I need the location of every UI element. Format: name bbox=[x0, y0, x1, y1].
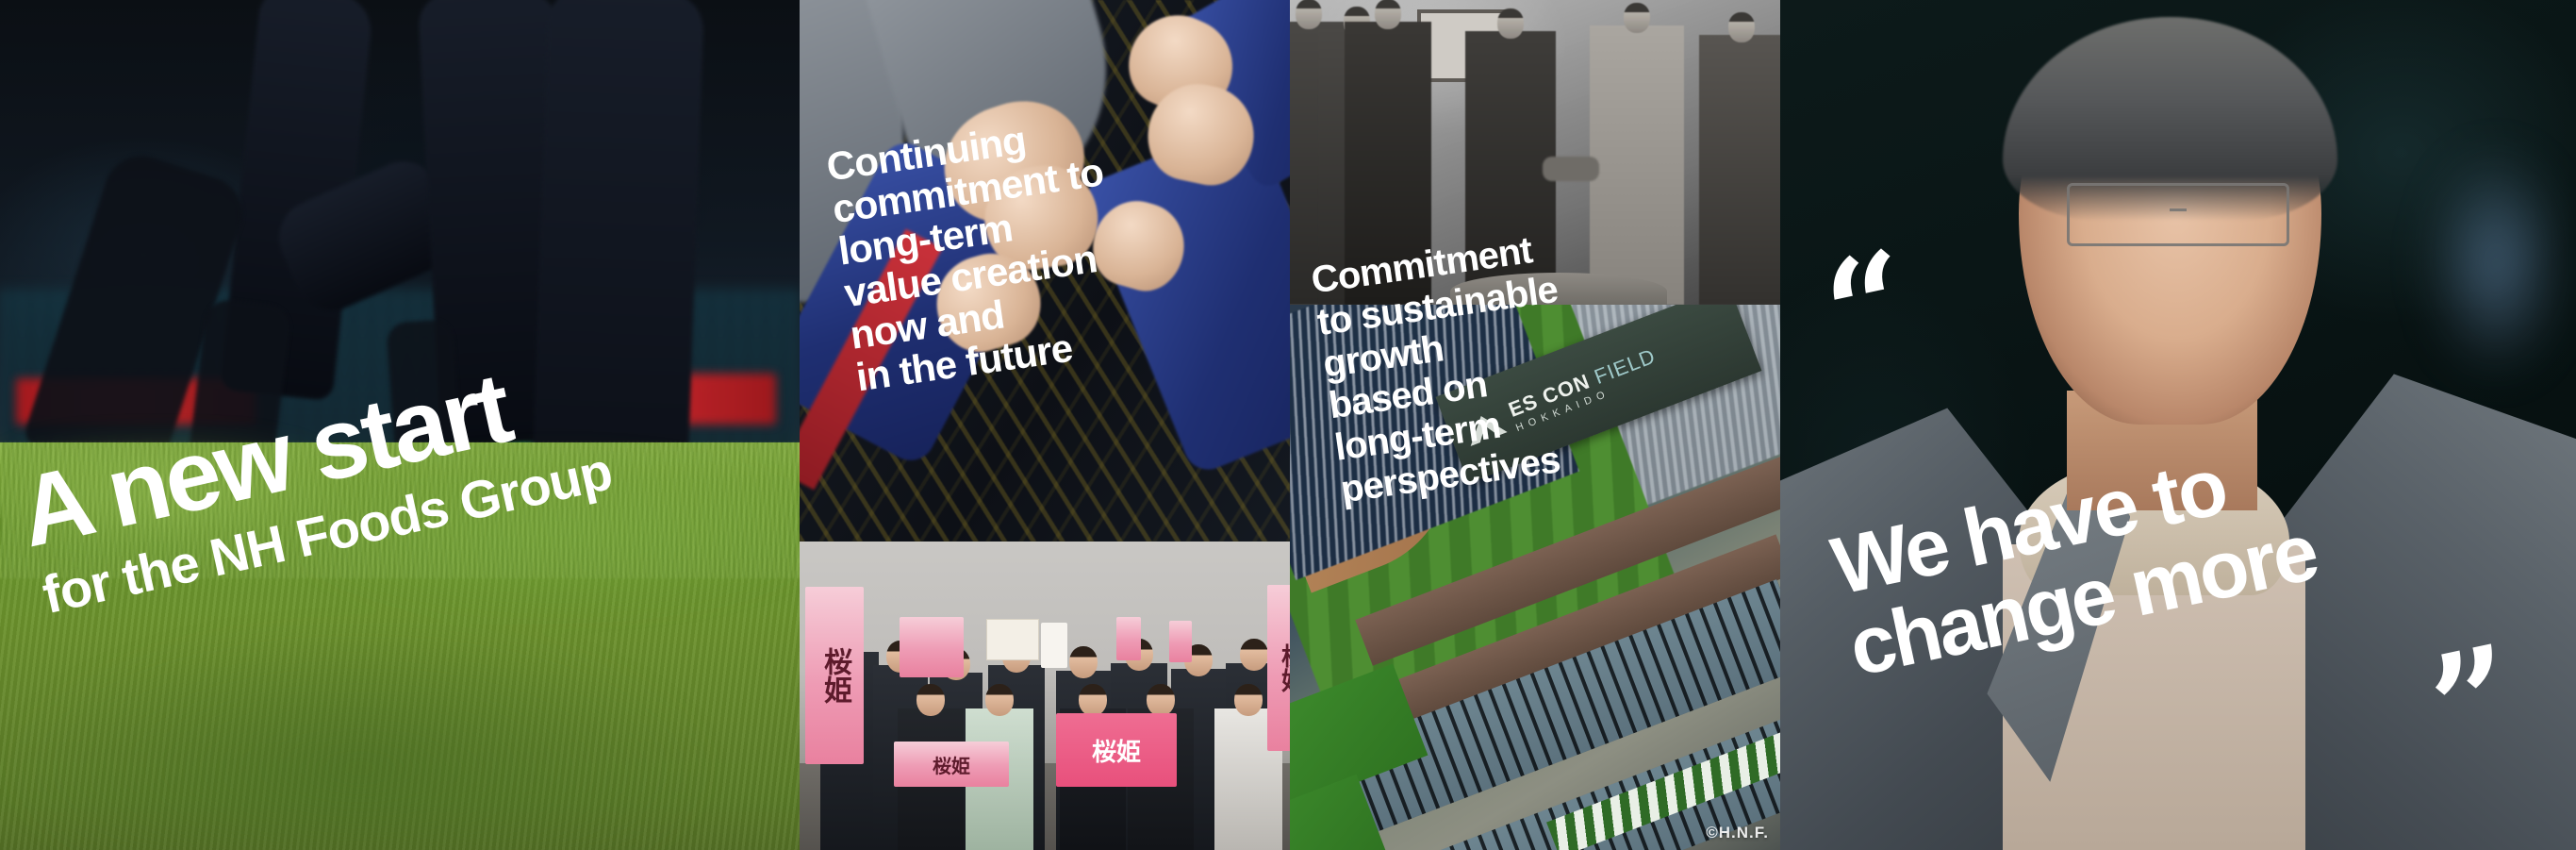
hero-banner: A new start for the NH Foods Group bbox=[0, 0, 2576, 850]
panel-sustainable-growth[interactable]: ES CON FIELD HOKKAIDO ©H.N.F. Commitment… bbox=[1290, 0, 1780, 850]
sakurahime-banner-large: 桜姫 bbox=[1056, 713, 1177, 787]
panel-a-new-start[interactable]: A new start for the NH Foods Group bbox=[0, 0, 800, 850]
quote-close-mark: ” bbox=[2425, 653, 2522, 753]
sakurahime-pack bbox=[1041, 623, 1067, 668]
panel-continuing-commitment[interactable]: 桜姫 桜姫 桜姫 桜姫 Continuing commitment to lon… bbox=[800, 0, 1290, 850]
sakurahime-pack bbox=[1169, 621, 1192, 662]
sakurahime-banner bbox=[900, 617, 964, 677]
certificate bbox=[986, 619, 1039, 660]
handshake bbox=[1543, 157, 1599, 181]
glasses-icon bbox=[2067, 183, 2289, 247]
sakurahime-banner-large: 桜姫 bbox=[894, 742, 1009, 787]
panel-we-have-to-change-more[interactable]: “ We have to change more ” bbox=[1780, 0, 2576, 850]
sakurahime-banner: 桜姫 bbox=[805, 587, 864, 764]
sakurahime-banner: 桜姫 bbox=[1267, 585, 1290, 751]
sakurahime-group-photo: 桜姫 桜姫 桜姫 桜姫 bbox=[800, 542, 1290, 850]
panel3-headline: Commitment to sustainable growth based o… bbox=[1309, 226, 1584, 511]
quote-open-mark: “ bbox=[1820, 258, 1917, 358]
sakurahime-pack bbox=[1116, 617, 1141, 660]
copyright-watermark: ©H.N.F. bbox=[1706, 824, 1769, 842]
panel2-headline: Continuing commitment to long-term value… bbox=[824, 109, 1130, 399]
